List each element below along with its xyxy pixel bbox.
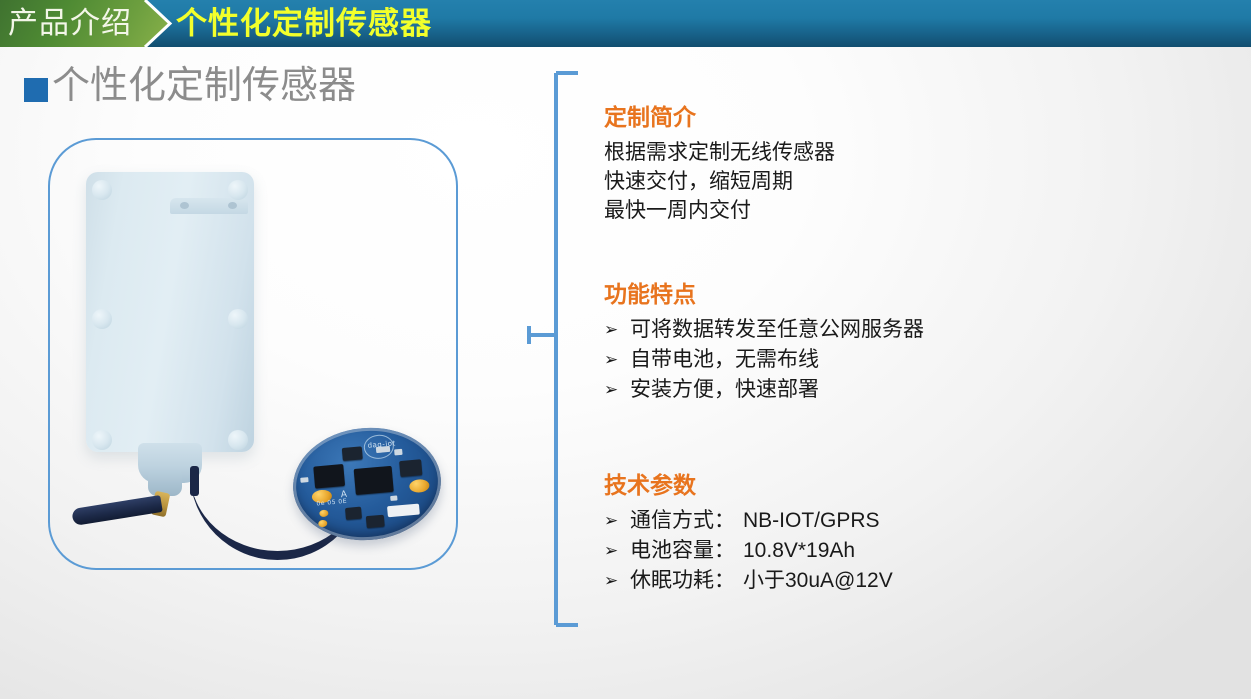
pcb-chip-qfn — [354, 466, 394, 495]
product-photo: daq-iot A 0e 05 0E — [50, 140, 456, 568]
header-category-label: 产品介绍 — [8, 1, 132, 47]
square-bullet-icon — [24, 78, 48, 102]
spec-item-value: 小于30uA@12V — [743, 566, 893, 596]
section-title: 个性化定制传感器 — [24, 66, 356, 108]
arrow-bullet-icon: ➢ — [604, 536, 630, 566]
feature-item-label: 可将数据转发至任意公网服务器 — [630, 315, 924, 345]
slide-canvas: 产品介绍 个性化定制传感器 个性化定制传感器 — [0, 0, 1251, 699]
block-intro-line-2: 快速交付，缩短周期 — [604, 167, 835, 196]
pcb-chip-soic — [313, 464, 345, 489]
feature-item: ➢ 可将数据转发至任意公网服务器 — [604, 315, 924, 345]
header-title: 个性化定制传感器 — [176, 1, 432, 47]
sensor-enclosure — [86, 172, 254, 452]
screw-bottom-left-icon — [92, 430, 112, 450]
screw-mid-left-icon — [92, 309, 112, 329]
pcb-smd-4 — [390, 495, 397, 501]
section-title-text: 个性化定制传感器 — [52, 66, 356, 108]
arrow-bullet-icon: ➢ — [604, 315, 630, 345]
content-bracket-icon — [520, 62, 580, 642]
arrow-bullet-icon: ➢ — [604, 506, 630, 536]
spec-item-label: 电池容量： — [630, 536, 735, 566]
product-photo-frame: daq-iot A 0e 05 0E — [48, 138, 458, 570]
screw-mid-right-icon — [228, 309, 248, 329]
arrow-bullet-icon: ➢ — [604, 375, 630, 405]
block-intro: 定制简介 根据需求定制无线传感器 快速交付，缩短周期 最快一周内交付 — [604, 98, 835, 225]
feature-item-label: 安装方便，快速部署 — [630, 375, 819, 405]
mount-hole-right-icon — [228, 202, 237, 209]
block-specs: 技术参数 ➢ 通信方式： NB-IOT/GPRS ➢ 电池容量： 10.8V*1… — [604, 466, 893, 596]
arrow-bullet-icon: ➢ — [604, 566, 630, 596]
block-features: 功能特点 ➢ 可将数据转发至任意公网服务器 ➢ 自带电池，无需布线 ➢ 安装方便… — [604, 275, 924, 405]
spec-item-value: NB-IOT/GPRS — [743, 506, 880, 536]
pcb-crystal — [342, 446, 363, 461]
pcb-chip-bottom2 — [366, 515, 385, 529]
screw-bottom-right-icon — [228, 430, 248, 450]
spec-item: ➢ 休眠功耗： 小于30uA@12V — [604, 566, 893, 596]
block-features-heading: 功能特点 — [604, 275, 924, 309]
block-specs-heading: 技术参数 — [604, 466, 893, 500]
arrow-bullet-icon: ➢ — [604, 345, 630, 375]
screw-top-right-icon — [228, 180, 248, 200]
pcb-chip-bottom — [345, 507, 362, 520]
pcb-smd-2 — [394, 449, 402, 456]
feature-item-label: 自带电池，无需布线 — [630, 345, 819, 375]
slide-header: 产品介绍 个性化定制传感器 — [0, 0, 1251, 47]
antenna — [71, 495, 163, 526]
mount-hole-left-icon — [180, 202, 189, 209]
block-intro-line-3: 最快一周内交付 — [604, 196, 835, 225]
pcb-chip-small — [399, 459, 422, 477]
spec-item-label: 休眠功耗： — [630, 566, 735, 596]
spec-item: ➢ 电池容量： 10.8V*19Ah — [604, 536, 893, 566]
block-intro-line-1: 根据需求定制无线传感器 — [604, 138, 835, 167]
pcb-smd-3 — [300, 477, 308, 483]
enclosure-mount-tab — [170, 198, 248, 214]
feature-item: ➢ 安装方便，快速部署 — [604, 375, 924, 405]
spec-item-value: 10.8V*19Ah — [743, 536, 855, 566]
spec-item-label: 通信方式： — [630, 506, 735, 536]
spec-item: ➢ 通信方式： NB-IOT/GPRS — [604, 506, 893, 536]
feature-item: ➢ 自带电池，无需布线 — [604, 345, 924, 375]
screw-top-left-icon — [92, 180, 112, 200]
block-intro-heading: 定制简介 — [604, 98, 835, 132]
